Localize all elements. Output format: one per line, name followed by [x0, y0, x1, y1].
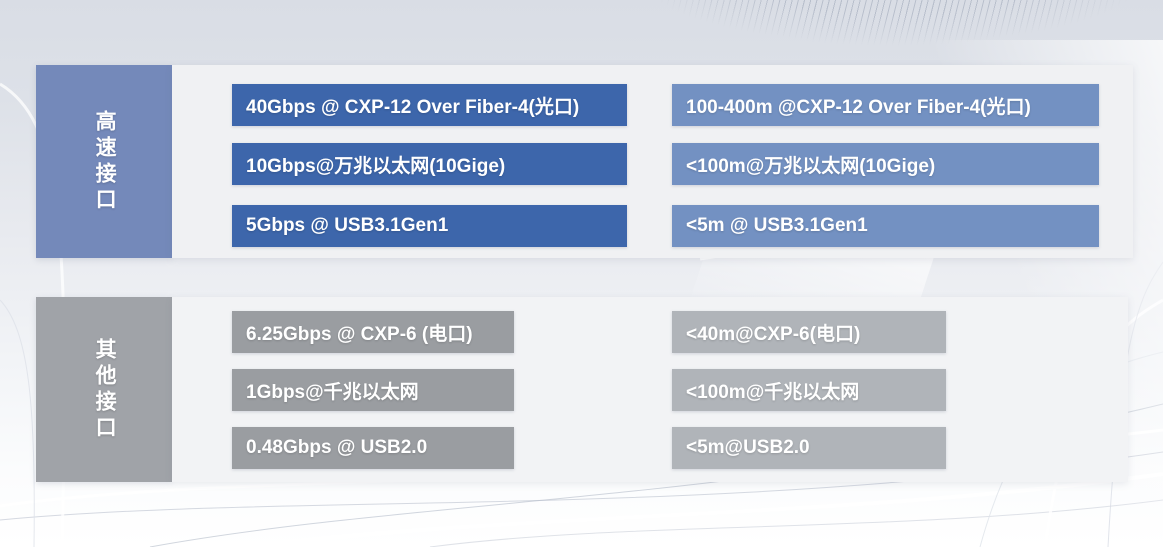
bandwidth-bar[interactable]: 5Gbps @ USB3.1Gen1	[232, 205, 627, 247]
distance-bar-label: <5m @ USB3.1Gen1	[686, 215, 868, 237]
section-panel-high-speed: 40Gbps @ CXP-12 Over Fiber-4(光口) 10Gbps@…	[172, 65, 1133, 258]
distance-bar-label: <5m@USB2.0	[686, 437, 810, 459]
bandwidth-bar[interactable]: 0.48Gbps @ USB2.0	[232, 427, 514, 469]
bandwidth-bar[interactable]: 6.25Gbps @ CXP-6 (电口)	[232, 311, 514, 353]
distance-bar[interactable]: <5m @ USB3.1Gen1	[672, 205, 1099, 247]
section-label-other: 其他接口	[36, 297, 172, 482]
bandwidth-bar-label: 5Gbps @ USB3.1Gen1	[246, 215, 448, 237]
section-panel-other: 6.25Gbps @ CXP-6 (电口) 1Gbps@千兆以太网 0.48Gb…	[172, 297, 1128, 482]
section-label-high-speed: 高速接口	[36, 65, 172, 258]
distance-bar[interactable]: <5m@USB2.0	[672, 427, 946, 469]
distance-bar[interactable]: <100m@万兆以太网(10Gige)	[672, 143, 1099, 185]
bandwidth-bar-label: 40Gbps @ CXP-12 Over Fiber-4(光口)	[246, 92, 579, 119]
distance-bar[interactable]: <100m@千兆以太网	[672, 369, 946, 411]
bandwidth-bar-label: 1Gbps@千兆以太网	[246, 377, 419, 404]
section-high-speed: 高速接口 40Gbps @ CXP-12 Over Fiber-4(光口) 10…	[36, 65, 1133, 258]
bandwidth-bar[interactable]: 10Gbps@万兆以太网(10Gige)	[232, 143, 627, 185]
bandwidth-bar-label: 6.25Gbps @ CXP-6 (电口)	[246, 319, 473, 346]
distance-bar-label: <100m@万兆以太网(10Gige)	[686, 151, 935, 178]
section-label-text: 其他接口	[92, 338, 116, 442]
distance-bar-label: <40m@CXP-6(电口)	[686, 319, 860, 346]
section-label-text: 高速接口	[92, 110, 116, 214]
bandwidth-bar[interactable]: 40Gbps @ CXP-12 Over Fiber-4(光口)	[232, 84, 627, 126]
distance-bar-label: 100-400m @CXP-12 Over Fiber-4(光口)	[686, 92, 1031, 119]
distance-bar-label: <100m@千兆以太网	[686, 377, 859, 404]
slide-canvas: 高速接口 40Gbps @ CXP-12 Over Fiber-4(光口) 10…	[0, 0, 1163, 547]
bandwidth-bar-label: 10Gbps@万兆以太网(10Gige)	[246, 151, 505, 178]
distance-bar[interactable]: <40m@CXP-6(电口)	[672, 311, 946, 353]
bandwidth-bar[interactable]: 1Gbps@千兆以太网	[232, 369, 514, 411]
section-other: 其他接口 6.25Gbps @ CXP-6 (电口) 1Gbps@千兆以太网 0…	[36, 297, 1128, 482]
bandwidth-bar-label: 0.48Gbps @ USB2.0	[246, 437, 427, 459]
distance-bar[interactable]: 100-400m @CXP-12 Over Fiber-4(光口)	[672, 84, 1099, 126]
